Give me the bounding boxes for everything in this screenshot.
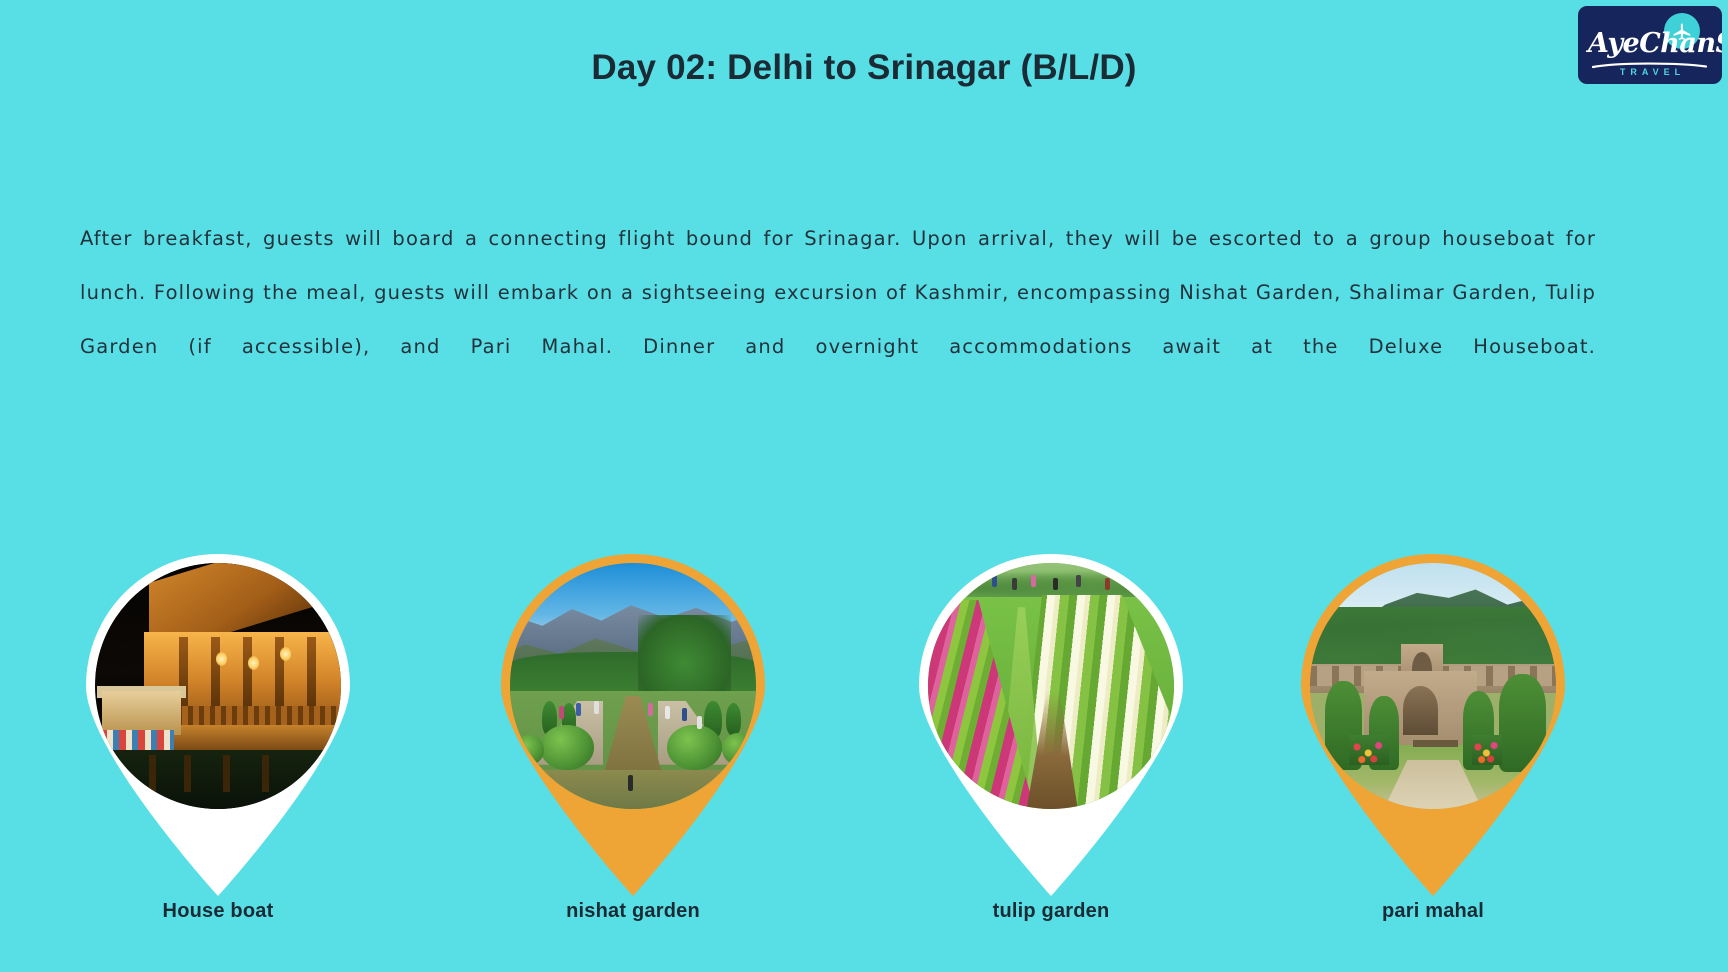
destination-card-tulip-garden[interactable]: tulip garden	[901, 536, 1201, 956]
page-title: Day 02: Delhi to Srinagar (B/L/D)	[0, 48, 1728, 88]
map-pin-icon	[901, 536, 1201, 896]
destination-photo	[1310, 563, 1556, 809]
destination-photo	[95, 563, 341, 809]
destination-pin-row: House boat	[0, 536, 1728, 956]
destination-label: tulip garden	[901, 900, 1201, 923]
map-pin-icon	[68, 536, 368, 896]
map-pin-icon	[1283, 536, 1583, 896]
destination-card-pari-mahal[interactable]: pari mahal	[1283, 536, 1583, 956]
destination-label: pari mahal	[1283, 900, 1583, 923]
destination-photo	[928, 563, 1174, 809]
destination-card-nishat-garden[interactable]: nishat garden	[483, 536, 783, 956]
destination-label: nishat garden	[483, 900, 783, 923]
destination-photo	[510, 563, 756, 809]
destination-label: House boat	[68, 900, 368, 923]
itinerary-description: After breakfast, guests will board a con…	[80, 212, 1596, 428]
destination-card-house-boat[interactable]: House boat	[68, 536, 368, 956]
map-pin-icon	[483, 536, 783, 896]
